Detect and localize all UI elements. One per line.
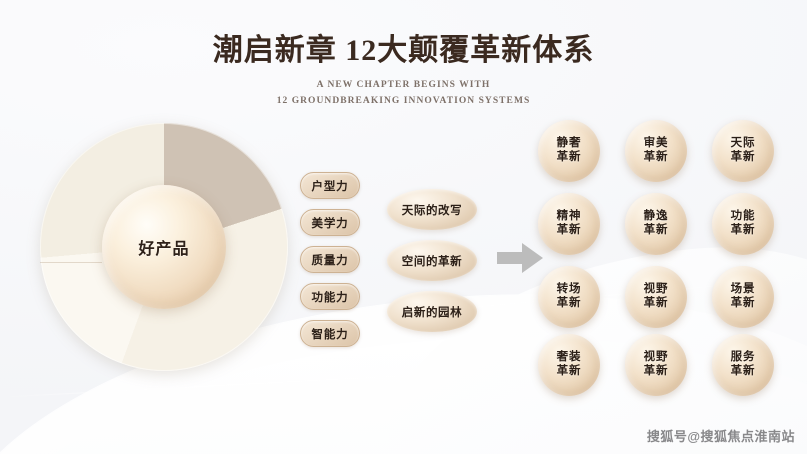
capability-pill-1[interactable]: 美学力	[300, 209, 360, 236]
innovation-circle-11-line1: 服务	[731, 351, 756, 365]
innovation-circle-5-line1: 功能	[731, 210, 756, 224]
slide-header: 潮启新章 12大颠覆革新体系 A NEW CHAPTER BEGINS WITH…	[0, 34, 807, 109]
innovation-circle-9-line2: 革新	[557, 365, 582, 379]
innovation-circle-4-line2: 革新	[644, 224, 669, 238]
innovation-circle-8-line1: 场景	[731, 283, 756, 297]
innovation-circle-2[interactable]: 天际 革新	[712, 120, 774, 182]
capability-pill-4[interactable]: 智能力	[300, 320, 360, 347]
right-arrow-icon	[497, 243, 543, 273]
innovation-circle-8-line2: 革新	[731, 297, 756, 311]
innovation-circle-4[interactable]: 静逸 革新	[625, 193, 687, 255]
innovation-circle-10-line2: 革新	[644, 365, 669, 379]
innovation-circle-6-line1: 转场	[557, 283, 582, 297]
innovation-circle-7-line2: 革新	[644, 297, 669, 311]
subtitle-line-2: 12 GROUNDBREAKING INNOVATION SYSTEMS	[0, 93, 807, 109]
background-hairline-1	[0, 367, 559, 397]
donut-segment-divider	[40, 262, 102, 263]
innovation-circle-10[interactable]: 视野 革新	[625, 334, 687, 396]
innovation-circle-1-line1: 审美	[644, 137, 669, 151]
innovation-circle-8[interactable]: 场景 革新	[712, 266, 774, 328]
capability-pill-2[interactable]: 质量力	[300, 246, 360, 273]
innovation-circle-5-line2: 革新	[731, 224, 756, 238]
donut-center-sphere: 好产品	[102, 185, 226, 309]
innovation-circle-11[interactable]: 服务 革新	[712, 334, 774, 396]
innovation-circle-3-line2: 革新	[557, 224, 582, 238]
capability-pill-3[interactable]: 功能力	[300, 283, 360, 310]
theme-oval-2[interactable]: 启新的园林	[387, 291, 477, 332]
innovation-circle-5[interactable]: 功能 革新	[712, 193, 774, 255]
innovation-circle-3-line1: 精神	[557, 210, 582, 224]
innovation-circle-9-line1: 奢装	[557, 351, 582, 365]
watermark: 搜狐号@搜狐焦点淮南站	[647, 426, 795, 445]
innovation-circle-7[interactable]: 视野 革新	[625, 266, 687, 328]
innovation-circle-6[interactable]: 转场 革新	[538, 266, 600, 328]
innovation-circle-10-line1: 视野	[644, 351, 669, 365]
good-product-donut-chart: 好产品	[40, 123, 288, 371]
innovation-circle-4-line1: 静逸	[644, 210, 669, 224]
innovation-circle-2-line2: 革新	[731, 151, 756, 165]
innovation-circle-3[interactable]: 精神 革新	[538, 193, 600, 255]
theme-oval-1[interactable]: 空间的革新	[387, 240, 477, 281]
innovation-circle-1-line2: 革新	[644, 151, 669, 165]
innovation-circle-6-line2: 革新	[557, 297, 582, 311]
innovation-circle-0-line2: 革新	[557, 151, 582, 165]
innovation-circle-7-line1: 视野	[644, 283, 669, 297]
innovation-circle-2-line1: 天际	[731, 137, 756, 151]
page-title: 潮启新章 12大颠覆革新体系	[0, 34, 807, 69]
donut-center-label: 好产品	[138, 235, 189, 259]
innovation-circle-1[interactable]: 审美 革新	[625, 120, 687, 182]
slide-canvas: 潮启新章 12大颠覆革新体系 A NEW CHAPTER BEGINS WITH…	[0, 0, 807, 454]
page-subtitle: A NEW CHAPTER BEGINS WITH 12 GROUNDBREAK…	[0, 77, 807, 109]
innovation-circle-11-line2: 革新	[731, 365, 756, 379]
innovation-circle-0[interactable]: 静奢 革新	[538, 120, 600, 182]
innovation-circle-9[interactable]: 奢装 革新	[538, 334, 600, 396]
theme-oval-0[interactable]: 天际的改写	[387, 189, 477, 230]
innovation-circle-0-line1: 静奢	[557, 137, 582, 151]
capability-pill-0[interactable]: 户型力	[300, 172, 360, 199]
subtitle-line-1: A NEW CHAPTER BEGINS WITH	[0, 77, 807, 93]
watermark-text: 搜狐号@搜狐焦点淮南站	[647, 426, 795, 445]
